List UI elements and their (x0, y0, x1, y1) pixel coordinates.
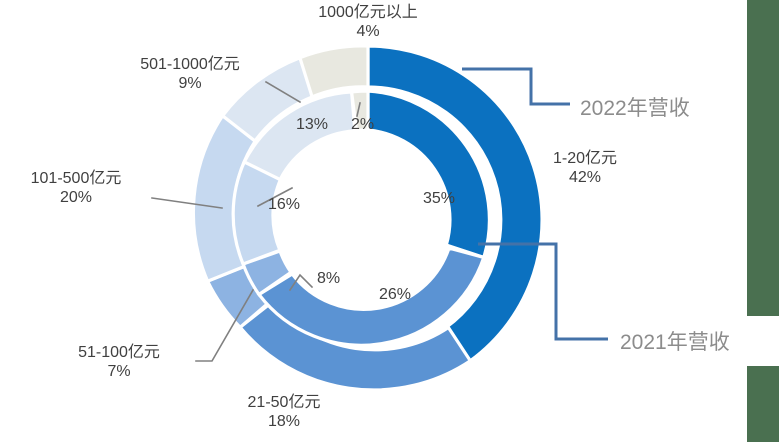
label-category: 1000亿元以上 (288, 4, 448, 23)
label-1-20: 1-20亿元 42% (520, 150, 650, 188)
label-percent: 4% (288, 23, 448, 42)
inner-label-16: 16% (268, 196, 300, 214)
label-percent: 18% (204, 413, 364, 432)
inner-label-26: 26% (379, 286, 411, 304)
inner-label-2: 2% (351, 116, 374, 134)
label-percent: 20% (0, 189, 152, 208)
label-percent: 9% (110, 75, 270, 94)
callout-label-2021: 2021年营收 (620, 326, 730, 356)
inner-label-35: 35% (423, 190, 455, 208)
label-101-500: 101-500亿元 20% (0, 170, 152, 208)
callout-label-2022: 2022年营收 (580, 92, 690, 122)
label-category: 501-1000亿元 (110, 56, 270, 75)
outer-slice-1000-plus[interactable] (300, 46, 368, 97)
edge-accent-bar-bottom (747, 366, 779, 442)
label-category: 101-500亿元 (0, 170, 152, 189)
label-21-50: 21-50亿元 18% (204, 394, 364, 432)
label-category: 51-100亿元 (42, 344, 196, 363)
label-percent: 42% (520, 169, 650, 188)
label-percent: 7% (42, 363, 196, 382)
chart-canvas: 1000亿元以上 4% 501-1000亿元 9% 101-500亿元 20% … (0, 0, 779, 442)
edge-accent-bar-top (747, 0, 779, 316)
label-category: 21-50亿元 (204, 394, 364, 413)
inner-label-13: 13% (296, 116, 328, 134)
label-501-1000: 501-1000亿元 9% (110, 56, 270, 94)
label-51-100: 51-100亿元 7% (42, 344, 196, 382)
label-1000-plus: 1000亿元以上 4% (288, 4, 448, 42)
inner-label-8: 8% (317, 270, 340, 288)
label-category: 1-20亿元 (520, 150, 650, 169)
